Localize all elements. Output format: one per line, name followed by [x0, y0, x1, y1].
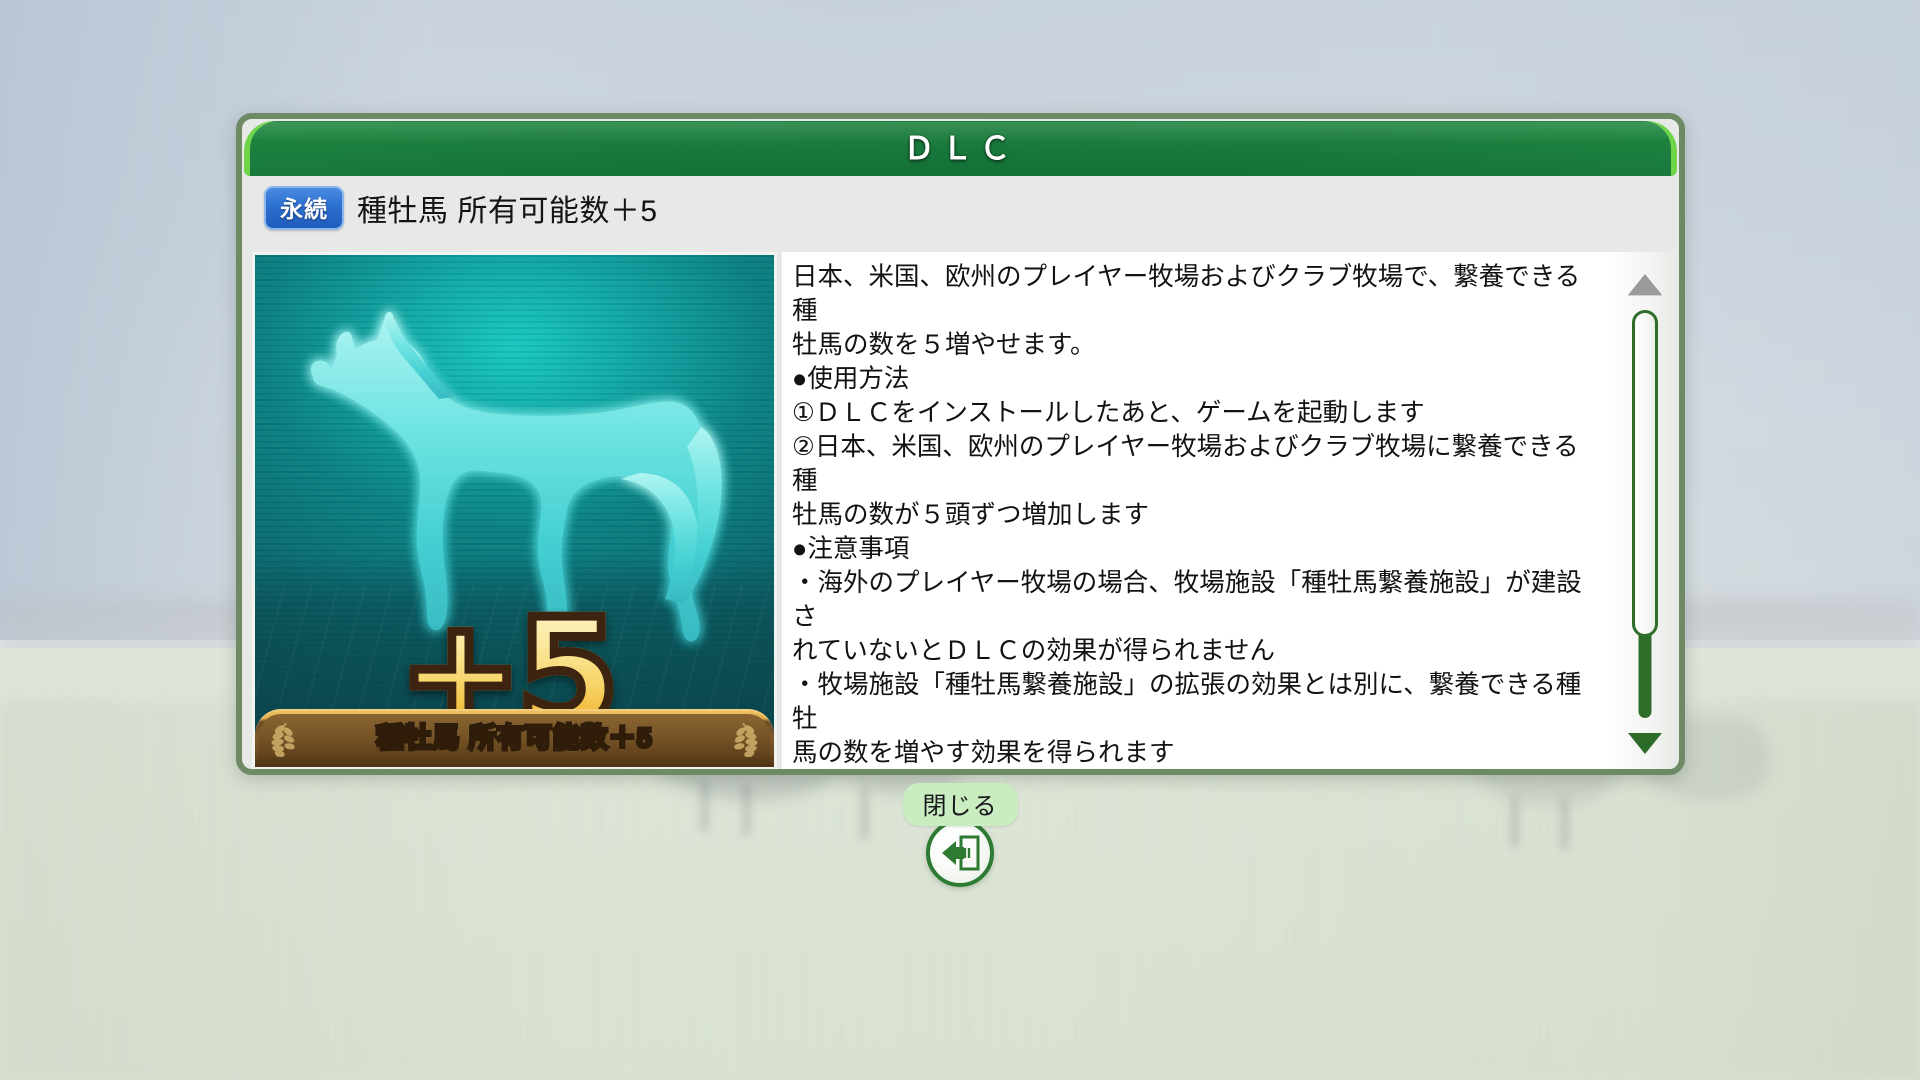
artwork-caption: 種牡馬 所有可能数＋5	[255, 709, 774, 767]
description-text: 日本、米国、欧州のプレイヤー牧場およびクラブ牧場で、繋養できる種牡馬の数を５増や…	[782, 252, 1614, 770]
close-button-circle[interactable]	[926, 819, 994, 887]
description-line: 牡馬の数が５頭ずつ増加します	[792, 498, 1600, 532]
item-title: 種牡馬 所有可能数＋5	[357, 186, 658, 230]
description-line: れていないとＤＬＣの効果が得られません	[792, 634, 1600, 668]
item-header: 永続 種牡馬 所有可能数＋5	[242, 176, 1679, 238]
description-line: 馬の数を増やす効果を得られます	[792, 736, 1600, 770]
description-line: 日本、米国、欧州のプレイヤー牧場およびクラブ牧場で、繋養できる種	[792, 260, 1600, 328]
dlc-dialog: ＤＬＣ 永続 種牡馬 所有可能数＋5	[236, 113, 1685, 775]
dialog-content: +5	[242, 252, 1679, 769]
exit-arrow-icon	[938, 833, 982, 873]
description-line: ●注意事項	[792, 532, 1600, 566]
status-badge: 永続	[264, 186, 344, 230]
dlc-artwork-card: +5	[252, 252, 777, 770]
triangle-down-icon[interactable]	[1628, 733, 1662, 754]
description-panel: 日本、米国、欧州のプレイヤー牧場およびクラブ牧場で、繋養できる種牡馬の数を５増や…	[782, 252, 1676, 770]
description-line: ・海外のプレイヤー牧場の場合、牧場施設「種牡馬繋養施設」が建設さ	[792, 566, 1600, 634]
description-line: 牡馬の数を５増やせます。	[792, 328, 1600, 362]
artwork-caption-banner: 種牡馬 所有可能数＋5	[255, 709, 774, 767]
close-button-label[interactable]: 閉じる	[903, 783, 1018, 826]
description-scrollbar[interactable]	[1614, 252, 1676, 770]
scrollbar-thumb[interactable]	[1632, 310, 1658, 637]
dialog-title-bar: ＤＬＣ	[244, 121, 1677, 176]
triangle-up-icon[interactable]	[1628, 274, 1662, 295]
description-line: ・牧場施設「種牡馬繋養施設」の拡張の効果とは別に、繋養できる種牡	[792, 668, 1600, 736]
description-line: ②日本、米国、欧州のプレイヤー牧場およびクラブ牧場に繋養できる種	[792, 430, 1600, 498]
page-title: ＤＬＣ	[244, 121, 1677, 176]
description-line: ①ＤＬＣをインストールしたあと、ゲームを起動します	[792, 396, 1600, 430]
description-line: ●使用方法	[792, 362, 1600, 396]
close-button[interactable]: 閉じる	[0, 783, 1920, 887]
